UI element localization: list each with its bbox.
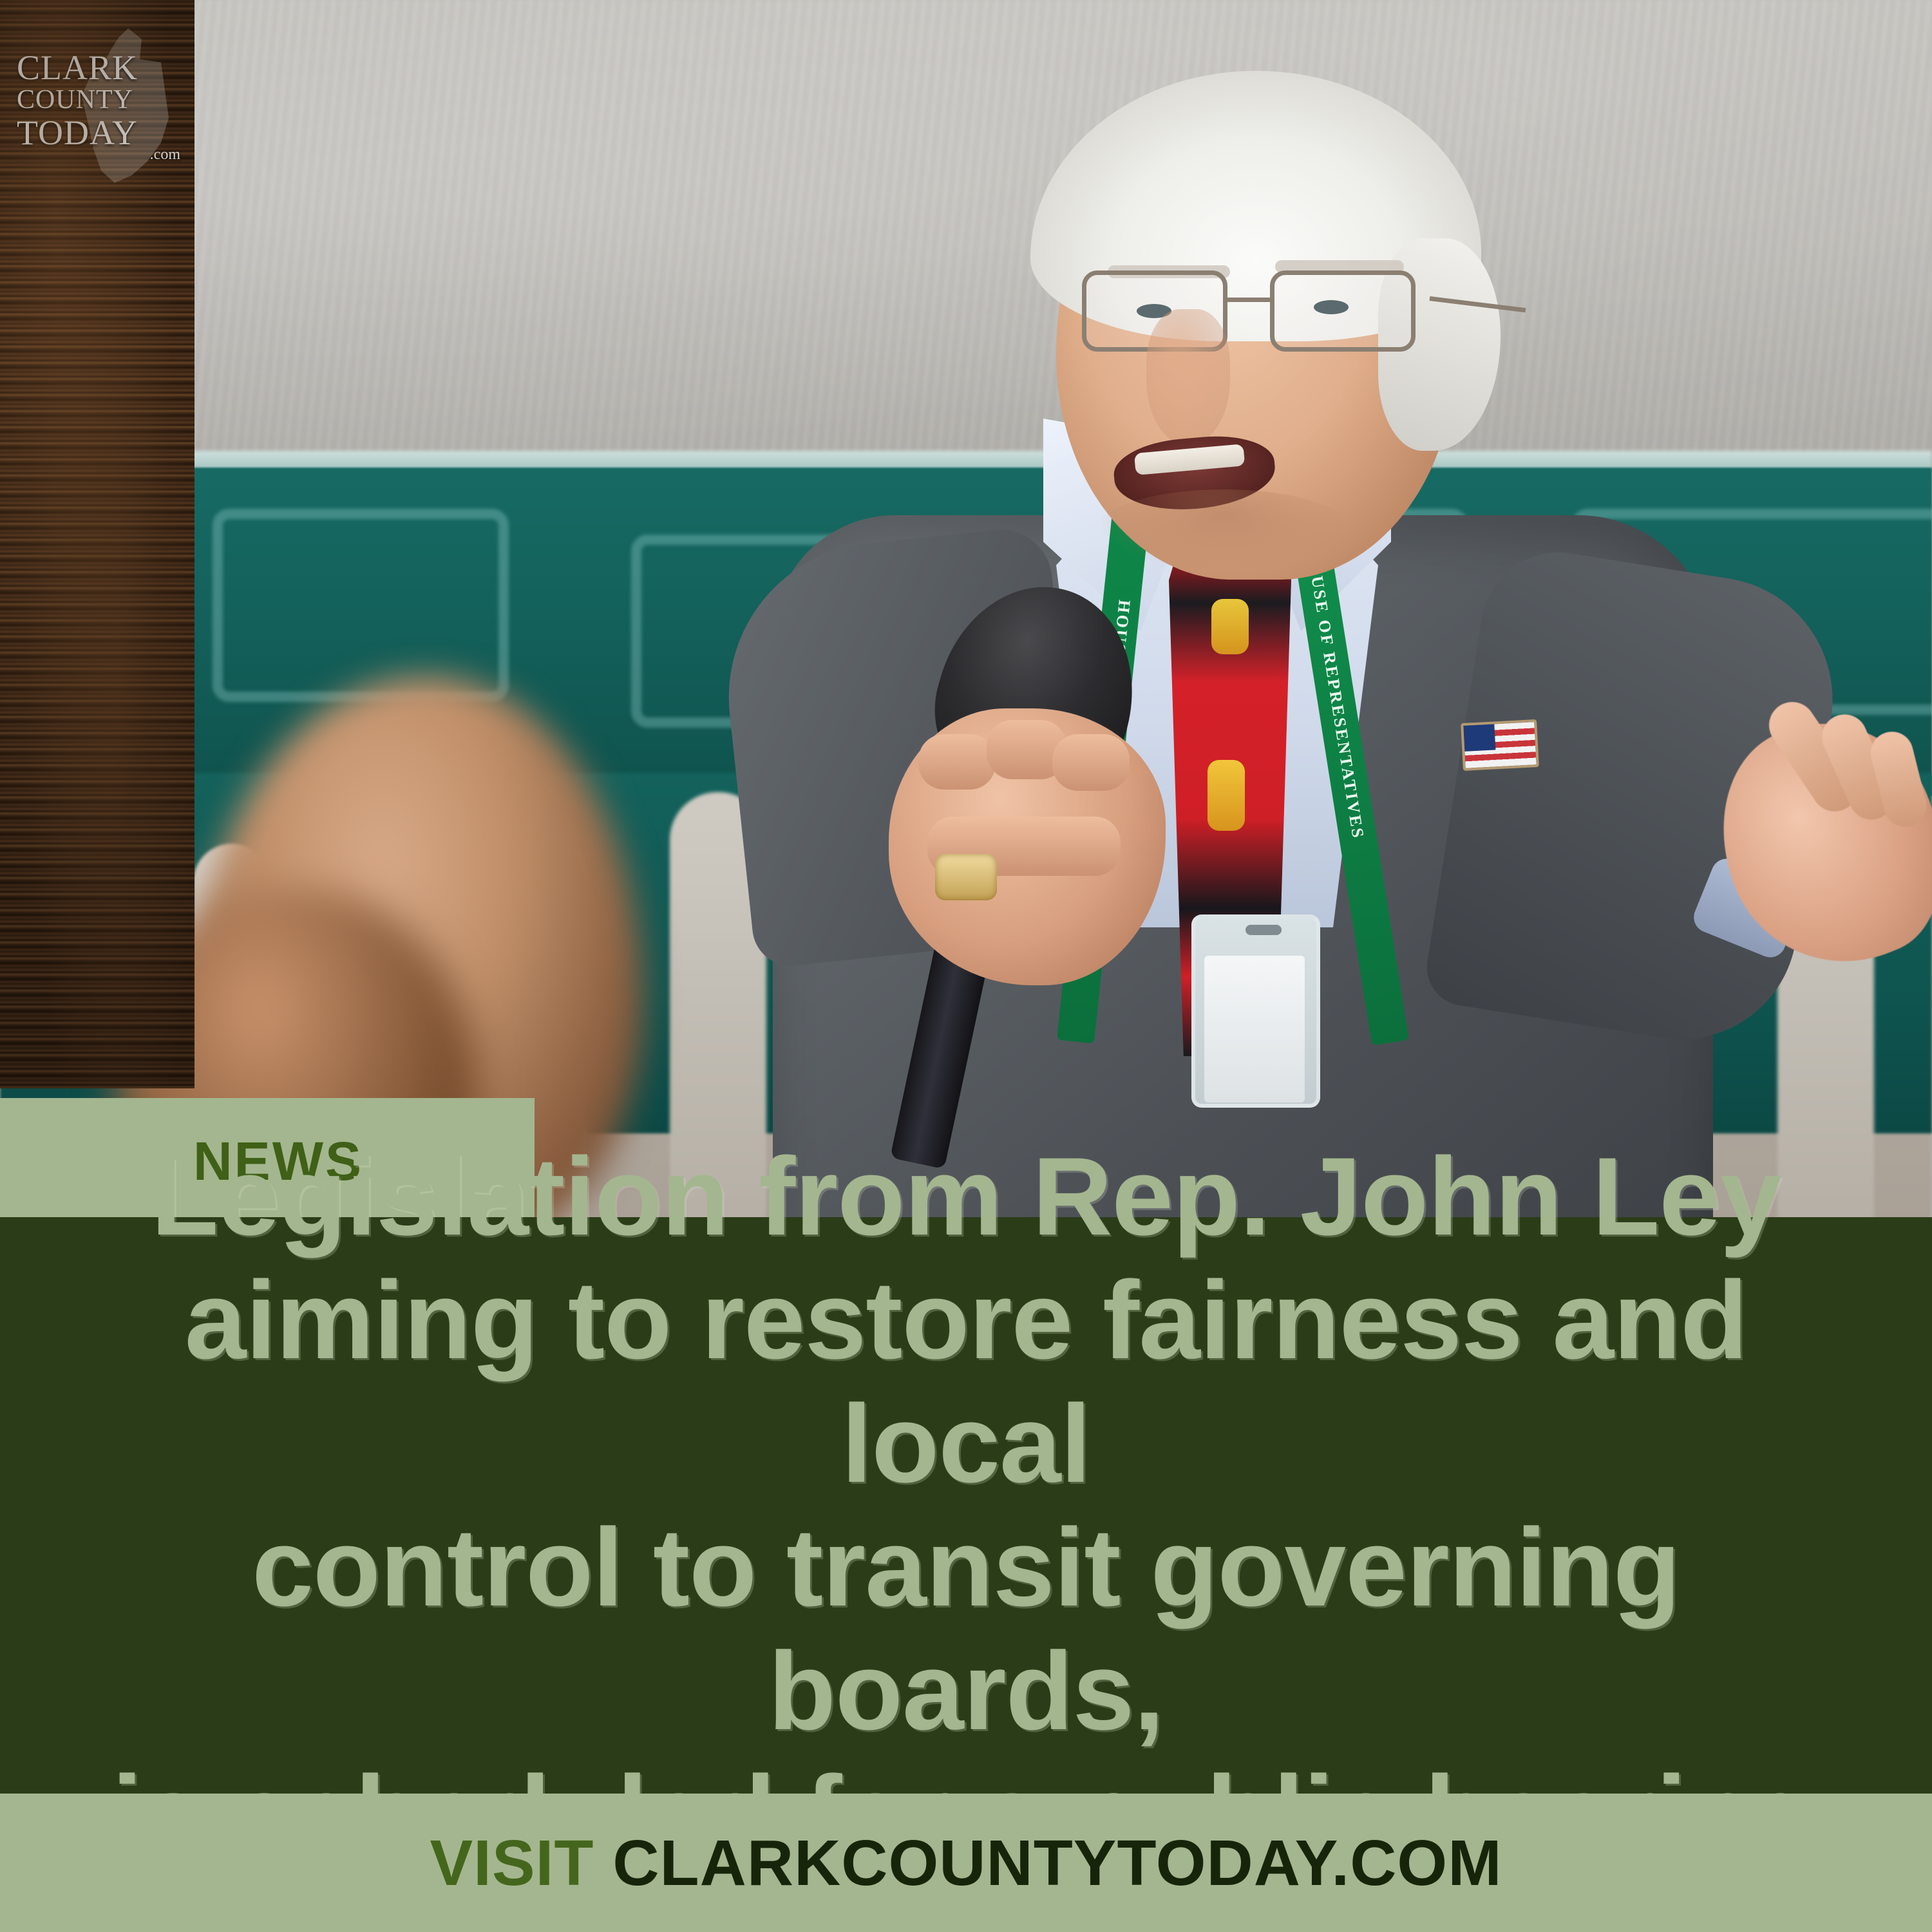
footer-visit-label: VISIT xyxy=(430,1827,594,1899)
brand-logo-panel: CLARK COUNTY TODAY .com xyxy=(0,0,194,1088)
logo-wordmark: CLARK COUNTY TODAY .com xyxy=(0,18,194,162)
flag-canton xyxy=(1463,724,1495,751)
tie-motif-2 xyxy=(1207,760,1245,831)
chin-shadow xyxy=(1095,489,1352,573)
headline-line-2: aiming to restore fairness and local xyxy=(45,1258,1887,1506)
footer-site-label[interactable]: CLARKCOUNTYTODAY.COM xyxy=(612,1827,1502,1899)
article-photo: HOUSE OF REPRESENTATIVES HOUSE OF REPRES… xyxy=(0,0,1932,1217)
hand-holding-microphone xyxy=(889,708,1166,985)
news-social-card: HOUSE OF REPRESENTATIVES HOUSE OF REPRES… xyxy=(0,0,1932,1932)
headline-line-3: control to transit governing boards, xyxy=(45,1506,1887,1753)
speaker-figure: HOUSE OF REPRESENTATIVES HOUSE OF REPRES… xyxy=(696,77,1803,1217)
logo-line-today: TODAY xyxy=(0,115,194,151)
tie-motif-1 xyxy=(1211,599,1249,654)
eyeglasses xyxy=(1082,270,1443,354)
knuckle-3 xyxy=(1052,734,1130,791)
county-map-icon xyxy=(72,28,169,183)
logo-lockup: CLARK COUNTY TODAY .com xyxy=(0,18,194,198)
nose xyxy=(1146,309,1230,444)
logo-tld: .com xyxy=(0,147,194,162)
id-badge-card xyxy=(1204,956,1305,1103)
railing-inner-outline-1 xyxy=(213,509,509,702)
finger-ring xyxy=(935,854,997,900)
logo-line-clark: CLARK xyxy=(0,18,194,85)
teeth xyxy=(1134,444,1245,475)
knuckle-1 xyxy=(918,734,996,790)
logo-line-county: COUNTY xyxy=(0,85,194,115)
footer-bar: VISIT CLARKCOUNTYTODAY.COM xyxy=(0,1794,1932,1932)
headline-line-1: Legislation from Rep. John Ley xyxy=(151,1135,1781,1258)
id-badge-holder xyxy=(1191,914,1320,1108)
us-flag-pin-icon xyxy=(1461,719,1539,771)
eye-right xyxy=(1314,300,1349,314)
glasses-bridge xyxy=(1227,298,1270,302)
footer-cta: VISIT CLARKCOUNTYTODAY.COM xyxy=(430,1831,1502,1895)
headline-block: Legislation from Rep. John Ley aiming to… xyxy=(0,1217,1932,1794)
badge-clip xyxy=(1245,925,1282,935)
